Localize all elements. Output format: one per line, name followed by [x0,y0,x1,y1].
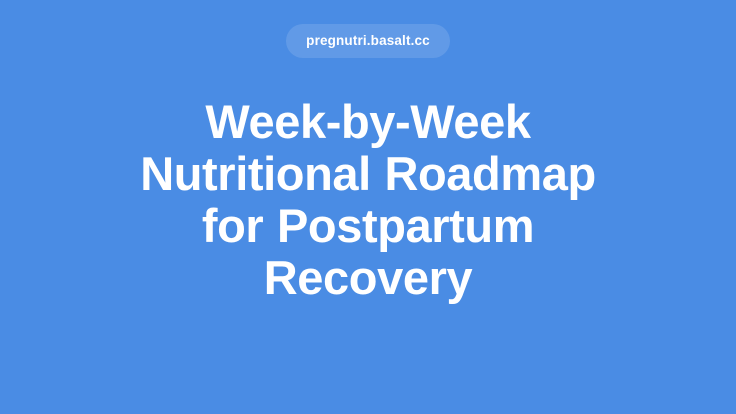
title-slide: pregnutri.basalt.cc Week-by-Week Nutriti… [0,0,736,414]
site-domain-badge[interactable]: pregnutri.basalt.cc [286,24,450,58]
title-line-4: Recovery [58,252,678,304]
title-line-2: Nutritional Roadmap [58,148,678,200]
title-line-3: for Postpartum [58,200,678,252]
title-line-1: Week-by-Week [58,96,678,148]
headline-wrap: Week-by-Week Nutritional Roadmap for Pos… [0,96,736,304]
page-title: Week-by-Week Nutritional Roadmap for Pos… [58,96,678,304]
badge-row: pregnutri.basalt.cc [0,24,736,58]
